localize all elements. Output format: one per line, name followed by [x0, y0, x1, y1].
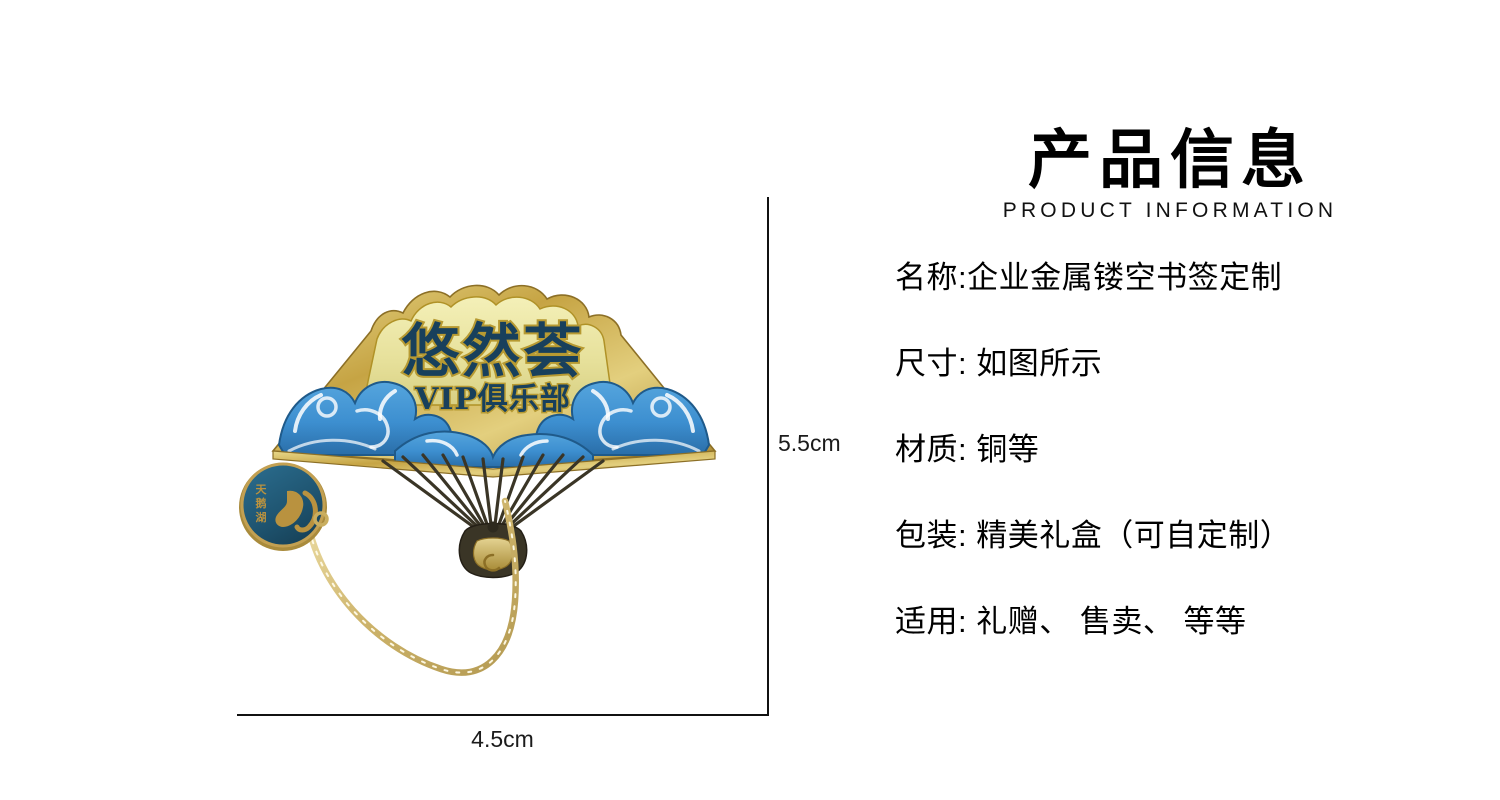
- spec-row-material: 材质: 铜等: [895, 434, 1455, 520]
- height-measure-label: 5.5cm: [778, 430, 841, 457]
- spec-list: 名称:企业金属镂空书签定制 尺寸: 如图所示 材质: 铜等 包装: 精美礼盒（可…: [895, 262, 1455, 692]
- product-information-panel: 产品信息 PRODUCT INFORMATION 名称:企业金属镂空书签定制 尺…: [895, 0, 1455, 800]
- width-measure-label: 4.5cm: [237, 726, 768, 753]
- spec-packaging-text: 包装: 精美礼盒（可自定制）: [895, 520, 1291, 551]
- svg-text:VIP俱乐部: VIP俱乐部: [414, 382, 571, 417]
- spec-row-name: 名称:企业金属镂空书签定制: [895, 262, 1455, 348]
- product-photo-panel: 悠然荟 VIP俱乐部 天 鹅: [0, 0, 860, 800]
- svg-text:悠然荟: 悠然荟: [401, 317, 584, 385]
- pendant-disc: 天 鹅 湖: [239, 463, 327, 551]
- fan-bookmark: 悠然荟 VIP俱乐部: [273, 285, 715, 577]
- spec-row-usage: 适用: 礼赠、 售卖、 等等: [895, 606, 1455, 692]
- svg-text:湖: 湖: [256, 510, 267, 524]
- height-guide-line: [767, 197, 769, 716]
- page-title: 产品信息: [970, 128, 1370, 193]
- spec-name-text: 名称:企业金属镂空书签定制: [895, 262, 1282, 293]
- svg-text:天: 天: [256, 483, 268, 496]
- fan-main-text: 悠然荟: [401, 317, 584, 385]
- spec-row-size: 尺寸: 如图所示: [895, 348, 1455, 434]
- fan-sub-text: VIP俱乐部: [414, 382, 571, 417]
- pendant-characters: 天 鹅 湖: [256, 483, 268, 524]
- svg-text:鹅: 鹅: [256, 496, 267, 510]
- title-block: 产品信息 PRODUCT INFORMATION: [970, 128, 1370, 223]
- width-guide-line: [237, 714, 768, 716]
- spec-usage-text: 适用: 礼赠、 售卖、 等等: [895, 606, 1246, 637]
- spec-material-text: 材质: 铜等: [895, 434, 1039, 465]
- product-artwork: 悠然荟 VIP俱乐部 天 鹅: [225, 255, 765, 705]
- spec-row-packaging: 包装: 精美礼盒（可自定制）: [895, 520, 1455, 606]
- spec-size-text: 尺寸: 如图所示: [895, 348, 1102, 379]
- page-subtitle: PRODUCT INFORMATION: [970, 199, 1370, 223]
